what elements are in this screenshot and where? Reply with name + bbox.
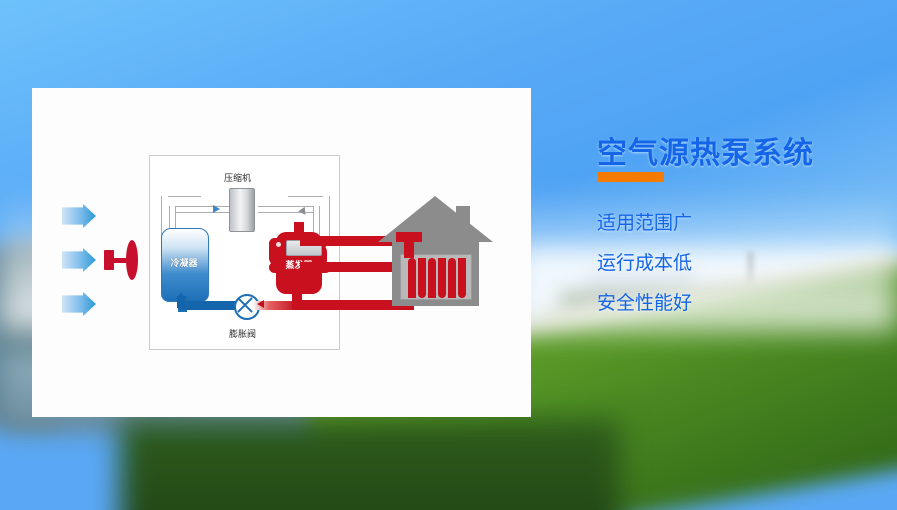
- floor-coil-segment: [408, 258, 416, 298]
- feature-bullet-3: 安全性能好: [597, 288, 692, 315]
- gas-pipe-inner-top-left: [169, 206, 231, 213]
- floor-coil-feed-drop: [404, 232, 414, 258]
- floor-coil-segment: [458, 258, 466, 298]
- floor-coil-segment: [438, 258, 446, 298]
- gas-flow-arrow-icon: [213, 205, 220, 213]
- gas-pipe-outer-right: [323, 196, 330, 240]
- fan-icon: [104, 240, 140, 280]
- compressor-body: [229, 188, 255, 232]
- liquid-line-horizontal: [177, 301, 240, 310]
- dark-grass-shadow: [120, 420, 620, 510]
- condenser-label: 冷凝器: [161, 256, 207, 269]
- gas-pipe-inner-top-right: [258, 206, 320, 213]
- feature-bullet-2: 运行成本低: [597, 248, 692, 275]
- slide-canvas: 压缩机 冷凝器 膨胀阀 蒸发器 空气源热泵系统: [0, 0, 897, 510]
- floor-coil-segment: [418, 258, 426, 298]
- expansion-valve-label: 膨胀阀: [229, 327, 256, 340]
- refrigerant-flow-arrow-icon: [257, 300, 264, 308]
- floor-coil-segment: [428, 258, 436, 298]
- floor-coil-segment: [448, 258, 456, 298]
- page-title: 空气源热泵系统: [597, 128, 814, 172]
- house-illustration: [378, 196, 493, 306]
- fan-blade: [126, 240, 138, 280]
- compressor-label: 压缩机: [224, 171, 251, 184]
- house-chimney: [456, 206, 470, 242]
- liquid-flow-arrow-icon: [176, 292, 186, 299]
- coil-joint-dot: [276, 242, 281, 247]
- feature-bullet-1: 适用范围广: [597, 208, 692, 235]
- title-accent-bar: [598, 172, 664, 182]
